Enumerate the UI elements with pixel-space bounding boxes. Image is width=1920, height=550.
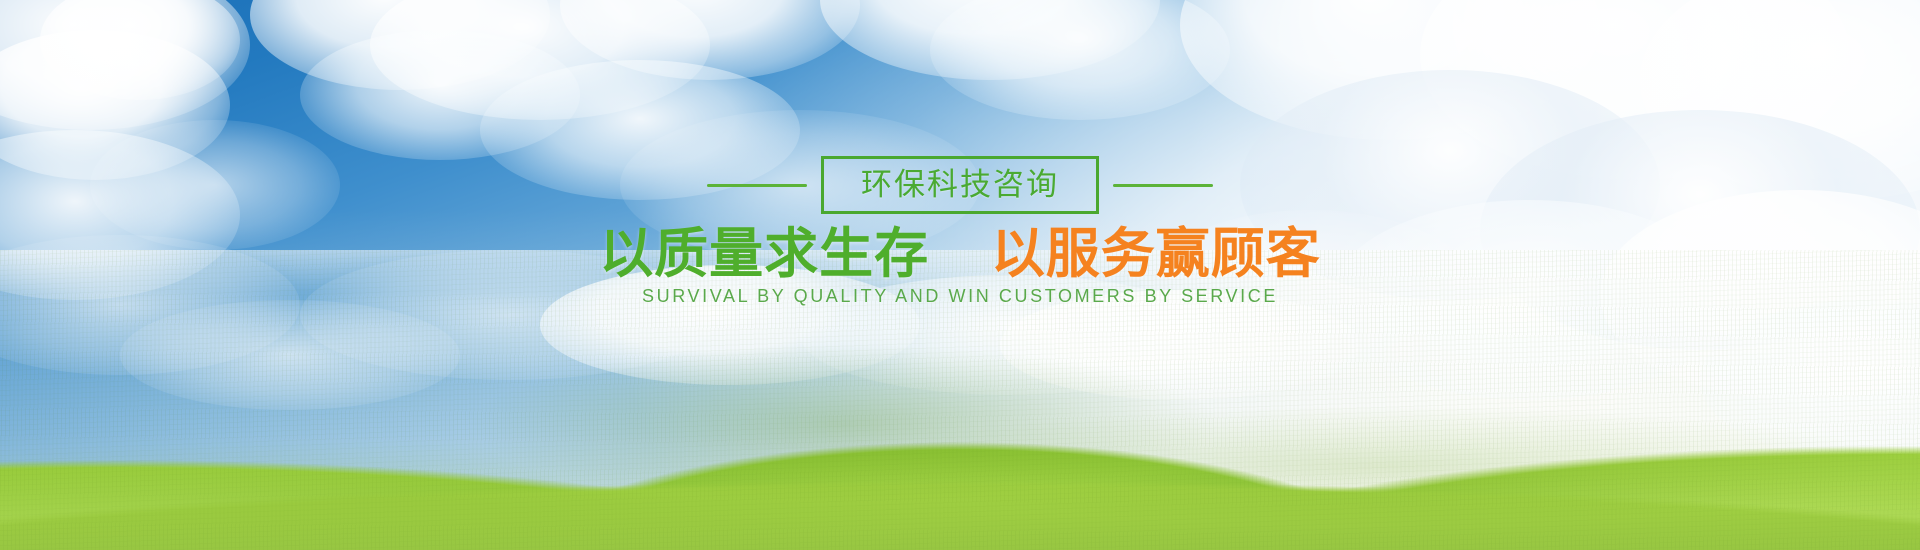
hero-banner: 环保科技咨询 以质量求生存 以服务赢顾客 SURVIVAL BY QUALITY… <box>0 0 1920 550</box>
headline-green: 以质量求生存 <box>599 222 929 285</box>
headline: 以质量求生存 以服务赢顾客 <box>0 226 1920 282</box>
hill-front <box>0 400 1920 550</box>
badge-label: 环保科技咨询 <box>861 170 1059 201</box>
subtitle: SURVIVAL BY QUALITY AND WIN CUSTOMERS BY… <box>0 287 1920 305</box>
badge-box: 环保科技咨询 <box>821 156 1099 214</box>
badge-row: 环保科技咨询 <box>0 156 1920 214</box>
decorative-rule-right <box>1113 184 1213 187</box>
decorative-rule-left <box>707 184 807 187</box>
headline-orange: 以服务赢顾客 <box>991 222 1321 285</box>
